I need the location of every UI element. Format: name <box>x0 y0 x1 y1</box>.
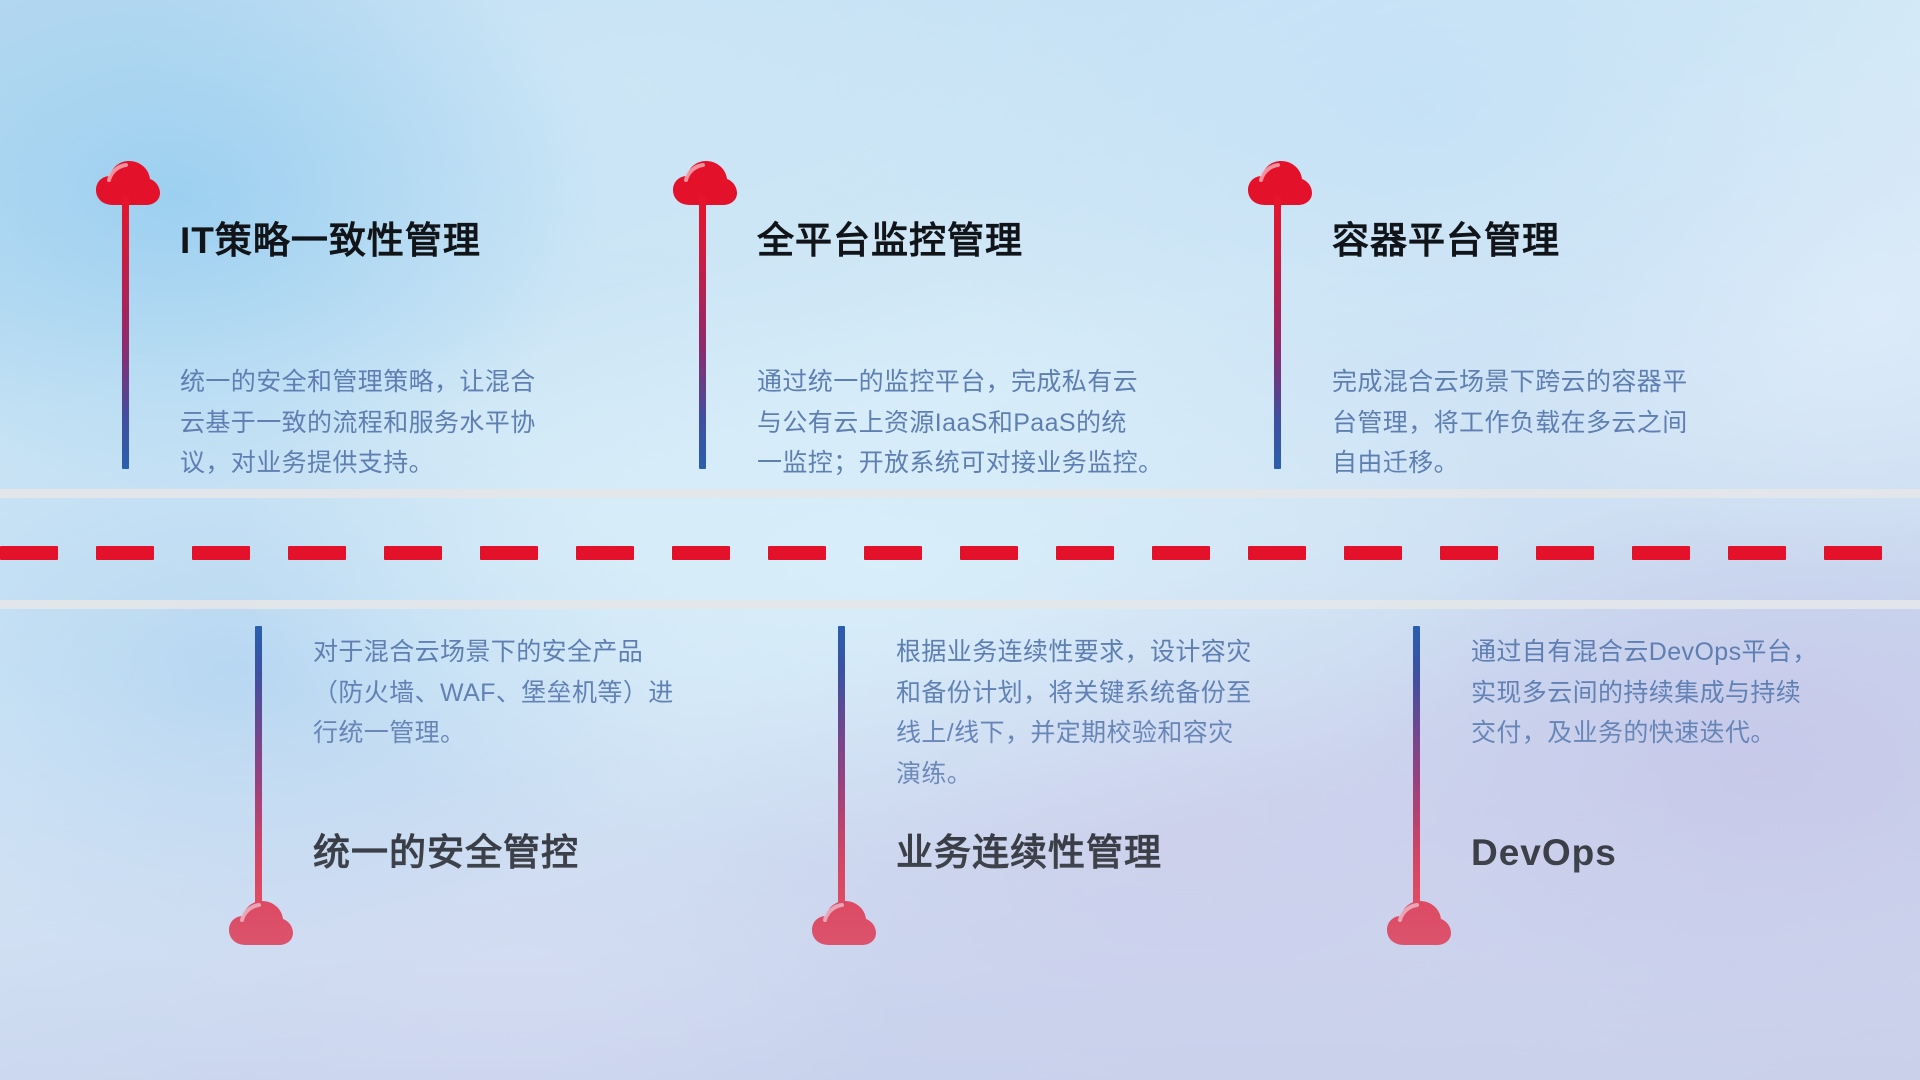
card-title: 统一的安全管控 <box>313 834 579 871</box>
card-body: 通过自有混合云DevOps平台， 实现多云间的持续集成与持续 交付，及业务的快速… <box>1471 632 1818 754</box>
body-line: 自由迁移。 <box>1332 443 1688 484</box>
body-line: 一监控；开放系统可对接业务监控。 <box>757 443 1163 484</box>
cloud-icon <box>228 900 294 946</box>
cloud-icon <box>1386 900 1452 946</box>
body-line: 演练。 <box>896 754 1252 795</box>
connector-line <box>1274 196 1281 469</box>
connector-line <box>255 626 262 906</box>
card-body: 统一的安全和管理策略，让混合 云基于一致的流程和服务水平协 议，对业务提供支持。 <box>180 362 536 484</box>
connector-line <box>838 626 845 906</box>
body-line: 根据业务连续性要求，设计容灾 <box>896 632 1252 673</box>
body-line: 与公有云上资源IaaS和PaaS的统 <box>757 403 1163 444</box>
body-line: 对于混合云场景下的安全产品 <box>313 632 674 673</box>
card-body: 对于混合云场景下的安全产品 （防火墙、WAF、堡垒机等）进 行统一管理。 <box>313 632 674 754</box>
divider-rule-bottom <box>0 600 1920 609</box>
body-line: （防火墙、WAF、堡垒机等）进 <box>313 673 674 714</box>
card-title: 全平台监控管理 <box>757 222 1023 259</box>
body-line: 统一的安全和管理策略，让混合 <box>180 362 536 403</box>
infographic-canvas: IT策略一致性管理 统一的安全和管理策略，让混合 云基于一致的流程和服务水平协 … <box>0 0 1920 1080</box>
connector-line <box>699 196 706 469</box>
connector-line <box>122 196 129 469</box>
card-body: 完成混合云场景下跨云的容器平 台管理，将工作负载在多云之间 自由迁移。 <box>1332 362 1688 484</box>
card-title: IT策略一致性管理 <box>180 222 481 259</box>
dashed-separator <box>0 546 1920 560</box>
body-line: 议，对业务提供支持。 <box>180 443 536 484</box>
body-line: 行统一管理。 <box>313 713 674 754</box>
card-title: 业务连续性管理 <box>896 834 1162 871</box>
card-body: 通过统一的监控平台，完成私有云 与公有云上资源IaaS和PaaS的统 一监控；开… <box>757 362 1163 484</box>
cloud-icon <box>811 900 877 946</box>
card-title: DevOps <box>1471 834 1617 871</box>
body-line: 通过自有混合云DevOps平台， <box>1471 632 1818 673</box>
card-title: 容器平台管理 <box>1332 222 1560 259</box>
body-line: 交付，及业务的快速迭代。 <box>1471 713 1818 754</box>
body-line: 线上/线下，并定期校验和容灾 <box>896 713 1252 754</box>
divider-rule-top <box>0 489 1920 498</box>
body-line: 台管理，将工作负载在多云之间 <box>1332 403 1688 444</box>
body-line: 通过统一的监控平台，完成私有云 <box>757 362 1163 403</box>
body-line: 云基于一致的流程和服务水平协 <box>180 403 536 444</box>
card-body: 根据业务连续性要求，设计容灾 和备份计划，将关键系统备份至 线上/线下，并定期校… <box>896 632 1252 794</box>
body-line: 实现多云间的持续集成与持续 <box>1471 673 1818 714</box>
body-line: 完成混合云场景下跨云的容器平 <box>1332 362 1688 403</box>
body-line: 和备份计划，将关键系统备份至 <box>896 673 1252 714</box>
connector-line <box>1413 626 1420 906</box>
